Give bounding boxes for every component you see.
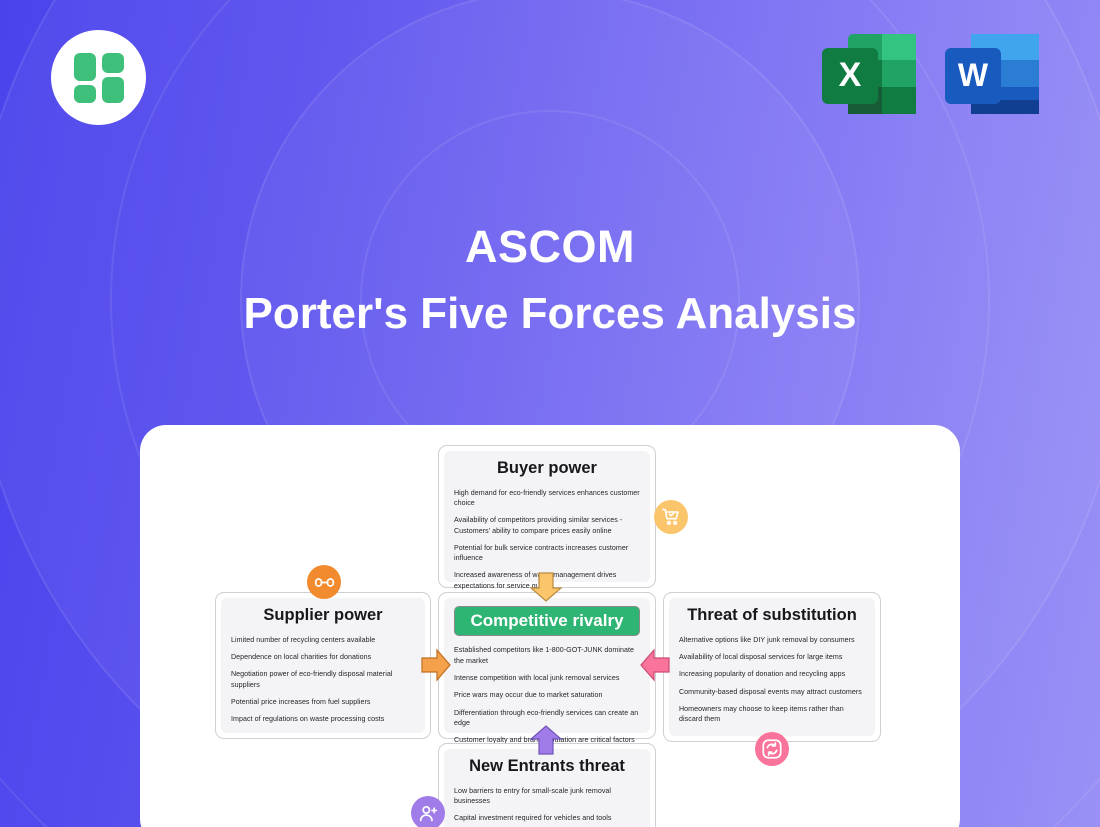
force-title-new-entrants-threat: New Entrants threat	[454, 757, 640, 777]
force-body: New Entrants threat Low barriers to entr…	[444, 749, 650, 827]
logo-tile-2	[102, 53, 124, 73]
force-point: Dependence on local charities for donati…	[231, 652, 415, 662]
force-point: Intense competition with local junk remo…	[454, 673, 640, 683]
force-point: Increasing popularity of donation and re…	[679, 669, 865, 679]
title-block: ASCOM Porter's Five Forces Analysis	[0, 222, 1100, 338]
page-title: Porter's Five Forces Analysis	[0, 290, 1100, 338]
force-box-competitive-rivalry[interactable]: Competitive rivalry Established competit…	[438, 592, 656, 739]
force-title-competitive-rivalry: Competitive rivalry	[454, 606, 640, 636]
logo-tile-3	[74, 85, 96, 103]
force-point: Price wars may occur due to market satur…	[454, 690, 640, 700]
brand-logo	[51, 30, 146, 125]
arrow-up-entrants-to-rivalry	[526, 725, 566, 755]
sync-icon[interactable]	[755, 732, 789, 766]
force-points-new-entrants-threat: Low barriers to entry for small-scale ju…	[454, 786, 640, 827]
force-point: Availability of competitors providing si…	[454, 515, 640, 536]
logo-tile-4	[102, 77, 124, 103]
force-title-supplier-power: Supplier power	[231, 606, 415, 626]
force-box-threat-of-substitution[interactable]: Threat of substitution Alternative optio…	[663, 592, 881, 742]
add-user-icon[interactable]	[411, 796, 445, 827]
force-box-buyer-power[interactable]: Buyer power High demand for eco-friendly…	[438, 445, 656, 588]
diagram-panel: Buyer power High demand for eco-friendly…	[140, 425, 960, 827]
link-icon[interactable]	[307, 565, 341, 599]
svg-text:W: W	[958, 57, 989, 93]
force-point: Potential price increases from fuel supp…	[231, 697, 415, 707]
force-body: Threat of substitution Alternative optio…	[669, 598, 875, 736]
force-points-supplier-power: Limited number of recycling centers avai…	[231, 635, 415, 725]
force-points-threat-of-substitution: Alternative options like DIY junk remova…	[679, 635, 865, 725]
force-point: Alternative options like DIY junk remova…	[679, 635, 865, 645]
porters-five-forces-diagram: Buyer power High demand for eco-friendly…	[140, 425, 960, 827]
arrow-down-buyer-to-rivalry	[526, 572, 566, 602]
grid-logo-icon	[74, 53, 124, 103]
force-body: Supplier power Limited number of recycli…	[221, 598, 425, 733]
svg-text:X: X	[839, 56, 862, 94]
excel-icon[interactable]: X	[820, 28, 918, 120]
word-icon[interactable]: W	[943, 28, 1041, 120]
force-point: Low barriers to entry for small-scale ju…	[454, 786, 640, 807]
force-point: Negotiation power of eco-friendly dispos…	[231, 669, 415, 690]
company-title: ASCOM	[0, 222, 1100, 272]
force-box-new-entrants-threat[interactable]: New Entrants threat Low barriers to entr…	[438, 743, 656, 827]
arrow-left-substitution-to-rivalry	[640, 645, 670, 685]
force-body: Competitive rivalry Established competit…	[444, 598, 650, 733]
force-point: Impact of regulations on waste processin…	[231, 714, 415, 724]
force-point: Potential for bulk service contracts inc…	[454, 543, 640, 564]
force-box-supplier-power[interactable]: Supplier power Limited number of recycli…	[215, 592, 431, 739]
force-point: Capital investment required for vehicles…	[454, 813, 640, 823]
force-title-threat-of-substitution: Threat of substitution	[679, 606, 865, 626]
force-point: Community-based disposal events may attr…	[679, 687, 865, 697]
force-body: Buyer power High demand for eco-friendly…	[444, 451, 650, 582]
arrow-right-supplier-to-rivalry	[421, 645, 451, 685]
force-point: High demand for eco-friendly services en…	[454, 488, 640, 509]
force-point: Availability of local disposal services …	[679, 652, 865, 662]
cart-icon[interactable]	[654, 500, 688, 534]
slide-canvas: X W ASCOM Porter's Five Forces Analysis	[0, 0, 1100, 827]
force-point: Limited number of recycling centers avai…	[231, 635, 415, 645]
logo-tile-1	[74, 53, 96, 81]
force-point: Homeowners may choose to keep items rath…	[679, 704, 865, 725]
force-point: Established competitors like 1-800-GOT-J…	[454, 645, 640, 666]
force-title-buyer-power: Buyer power	[454, 459, 640, 479]
